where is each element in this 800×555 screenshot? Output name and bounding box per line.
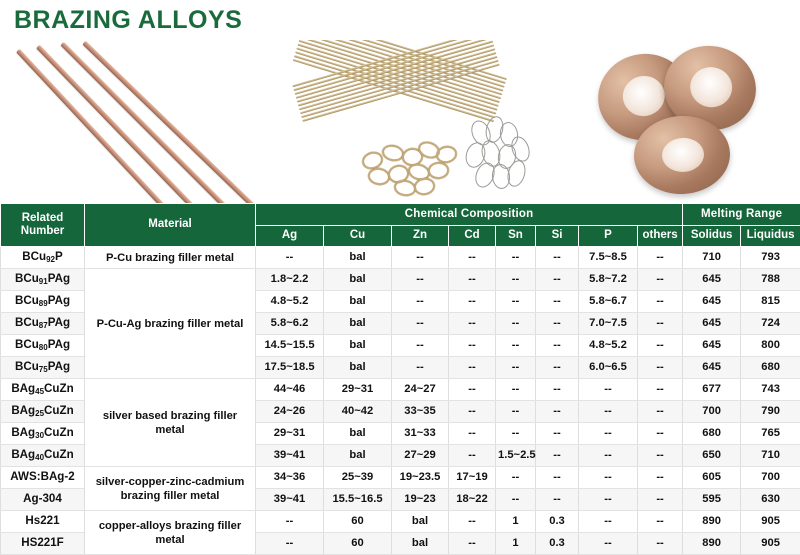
product-photo-strip [0,40,800,203]
cell-zn: 33~35 [392,401,449,423]
cell-others: -- [638,489,683,511]
cell-liquidus: 905 [741,511,800,533]
cell-si: -- [536,467,579,489]
cell-sn: -- [496,489,536,511]
cell-sn: -- [496,467,536,489]
cell-cu: bal [324,335,392,357]
cell-si: 0.3 [536,511,579,533]
cell-p: -- [579,467,638,489]
cell-related-number: Hs221 [1,511,85,533]
cell-cd: -- [449,247,496,269]
cell-solidus: 890 [683,533,741,555]
cell-solidus: 645 [683,291,741,313]
cell-zn: -- [392,269,449,291]
cell-p: 5.8~6.7 [579,291,638,313]
cell-cd: -- [449,269,496,291]
cell-zn: 31~33 [392,423,449,445]
cell-cu: 25~39 [324,467,392,489]
cell-zn: -- [392,291,449,313]
table-row: BAg45CuZnsilver based brazing filler met… [1,379,800,401]
header-liquidus: Liquidus [741,226,800,247]
header-element-cu: Cu [324,226,392,247]
cell-cu: bal [324,423,392,445]
cell-related-number: BAg25CuZn [1,401,85,423]
cell-cd: -- [449,291,496,313]
cell-p: -- [579,401,638,423]
cell-sn: -- [496,269,536,291]
cell-related-number: BAg40CuZn [1,445,85,467]
header-melting-range: Melting Range [683,204,800,226]
cell-sn: 1 [496,533,536,555]
page-title: BRAZING ALLOYS [14,6,242,35]
cell-si: -- [536,445,579,467]
header-element-zn: Zn [392,226,449,247]
cell-solidus: 645 [683,335,741,357]
cell-liquidus: 700 [741,467,800,489]
cell-si: -- [536,357,579,379]
cell-sn: -- [496,291,536,313]
cell-liquidus: 793 [741,247,800,269]
cell-solidus: 710 [683,247,741,269]
cell-cu: bal [324,269,392,291]
cell-ag: -- [256,511,324,533]
cell-ag: 39~41 [256,489,324,511]
cell-zn: 24~27 [392,379,449,401]
cell-others: -- [638,401,683,423]
cell-material: P-Cu brazing filler metal [85,247,256,269]
cell-solidus: 645 [683,313,741,335]
cell-liquidus: 680 [741,357,800,379]
header-solidus: Solidus [683,226,741,247]
cell-sn: -- [496,247,536,269]
cell-cd: -- [449,357,496,379]
cell-material: silver-copper-zinc-cadmium brazing fille… [85,467,256,511]
cell-p: 5.8~7.2 [579,269,638,291]
cell-cd: -- [449,401,496,423]
cell-others: -- [638,511,683,533]
alloy-specification-table: Related Number Material Chemical Composi… [0,203,800,555]
cell-cu: bal [324,357,392,379]
cell-si: -- [536,489,579,511]
cell-p: -- [579,445,638,467]
cell-cd: -- [449,445,496,467]
cell-sn: -- [496,357,536,379]
cell-si: -- [536,423,579,445]
cell-sn: 1.5~2.5 [496,445,536,467]
cell-related-number: BCu80PAg [1,335,85,357]
cell-others: -- [638,357,683,379]
cell-si: -- [536,313,579,335]
cell-liquidus: 788 [741,269,800,291]
header-element-others: others [638,226,683,247]
header-element-ag: Ag [256,226,324,247]
cell-si: 0.3 [536,533,579,555]
cell-others: -- [638,335,683,357]
cell-p: -- [579,379,638,401]
cell-ag: -- [256,533,324,555]
cell-cu: 60 [324,511,392,533]
photo-flat-brazing-rods [0,40,290,203]
cell-cu: 40~42 [324,401,392,423]
cell-cu: bal [324,247,392,269]
cell-cu: bal [324,313,392,335]
cell-related-number: BCu87PAg [1,313,85,335]
cell-p: 4.8~5.2 [579,335,638,357]
cell-liquidus: 765 [741,423,800,445]
cell-others: -- [638,379,683,401]
cell-ag: 34~36 [256,467,324,489]
cell-solidus: 605 [683,467,741,489]
cell-cd: 18~22 [449,489,496,511]
header-chemical-composition: Chemical Composition [256,204,683,226]
cell-sn: -- [496,313,536,335]
cell-others: -- [638,467,683,489]
cell-cd: -- [449,313,496,335]
cell-related-number: BAg45CuZn [1,379,85,401]
cell-liquidus: 724 [741,313,800,335]
cell-solidus: 595 [683,489,741,511]
cell-p: 7.5~8.5 [579,247,638,269]
cell-sn: 1 [496,511,536,533]
cell-cu: 29~31 [324,379,392,401]
cell-solidus: 645 [683,269,741,291]
cell-liquidus: 743 [741,379,800,401]
cell-sn: -- [496,379,536,401]
cell-material: silver based brazing filler metal [85,379,256,467]
header-element-cd: Cd [449,226,496,247]
cell-cd: -- [449,511,496,533]
cell-cu: bal [324,291,392,313]
photo-copper-strip-coils [580,40,800,203]
table-header-row-top: Related Number Material Chemical Composi… [1,204,800,226]
cell-cu: bal [324,445,392,467]
cell-p: -- [579,511,638,533]
cell-cd: -- [449,423,496,445]
cell-si: -- [536,401,579,423]
cell-liquidus: 800 [741,335,800,357]
cell-zn: 19~23.5 [392,467,449,489]
cell-zn: bal [392,533,449,555]
cell-zn: bal [392,511,449,533]
cell-ag: 29~31 [256,423,324,445]
table-row: Hs221copper-alloys brazing filler metal-… [1,511,800,533]
cell-liquidus: 630 [741,489,800,511]
cell-cu: 15.5~16.5 [324,489,392,511]
cell-others: -- [638,291,683,313]
cell-ag: 24~26 [256,401,324,423]
header-element-p: P [579,226,638,247]
cell-si: -- [536,291,579,313]
header-related-number: Related Number [1,204,85,247]
cell-related-number: BCu91PAg [1,269,85,291]
cell-p: -- [579,489,638,511]
cell-solidus: 680 [683,423,741,445]
cell-si: -- [536,335,579,357]
cell-liquidus: 790 [741,401,800,423]
header-related-number-line1: Related [22,212,64,224]
cell-related-number: AWS:BAg-2 [1,467,85,489]
cell-ag: 4.8~5.2 [256,291,324,313]
cell-others: -- [638,533,683,555]
header-element-si: Si [536,226,579,247]
brazing-alloys-table: Related Number Material Chemical Composi… [0,203,800,555]
cell-zn: -- [392,335,449,357]
cell-sn: -- [496,335,536,357]
cell-p: -- [579,423,638,445]
cell-related-number: Ag-304 [1,489,85,511]
cell-ag: -- [256,247,324,269]
cell-ag: 44~46 [256,379,324,401]
cell-solidus: 677 [683,379,741,401]
cell-others: -- [638,247,683,269]
cell-liquidus: 905 [741,533,800,555]
cell-zn: -- [392,247,449,269]
cell-others: -- [638,313,683,335]
cell-related-number: BCu89PAg [1,291,85,313]
photo-brass-rods-and-rings [290,40,580,203]
cell-solidus: 700 [683,401,741,423]
table-row: BCu91PAgP-Cu-Ag brazing filler metal1.8~… [1,269,800,291]
header-related-number-line2: Number [21,225,64,237]
cell-liquidus: 815 [741,291,800,313]
cell-ag: 17.5~18.5 [256,357,324,379]
table-body: BCu92PP-Cu brazing filler metal--bal----… [1,247,800,555]
cell-material: copper-alloys brazing filler metal [85,511,256,555]
cell-cd: -- [449,335,496,357]
cell-cd: -- [449,379,496,401]
cell-solidus: 890 [683,511,741,533]
cell-ag: 39~41 [256,445,324,467]
cell-si: -- [536,247,579,269]
cell-sn: -- [496,401,536,423]
cell-si: -- [536,269,579,291]
cell-zn: 19~23 [392,489,449,511]
cell-liquidus: 710 [741,445,800,467]
cell-zn: -- [392,313,449,335]
table-header: Related Number Material Chemical Composi… [1,204,800,247]
cell-others: -- [638,445,683,467]
cell-others: -- [638,423,683,445]
cell-si: -- [536,379,579,401]
cell-p: 6.0~6.5 [579,357,638,379]
table-row: AWS:BAg-2silver-copper-zinc-cadmium braz… [1,467,800,489]
cell-cu: 60 [324,533,392,555]
cell-ag: 1.8~2.2 [256,269,324,291]
table-row: BCu92PP-Cu brazing filler metal--bal----… [1,247,800,269]
cell-material: P-Cu-Ag brazing filler metal [85,269,256,379]
cell-sn: -- [496,423,536,445]
cell-zn: -- [392,357,449,379]
cell-p: 7.0~7.5 [579,313,638,335]
cell-related-number: BCu75PAg [1,357,85,379]
cell-solidus: 645 [683,357,741,379]
header-material: Material [85,204,256,247]
cell-zn: 27~29 [392,445,449,467]
cell-ag: 14.5~15.5 [256,335,324,357]
cell-solidus: 650 [683,445,741,467]
cell-ag: 5.8~6.2 [256,313,324,335]
cell-cd: 17~19 [449,467,496,489]
cell-others: -- [638,269,683,291]
cell-cd: -- [449,533,496,555]
cell-related-number: BAg30CuZn [1,423,85,445]
header-element-sn: Sn [496,226,536,247]
cell-related-number: HS221F [1,533,85,555]
cell-p: -- [579,533,638,555]
cell-related-number: BCu92P [1,247,85,269]
